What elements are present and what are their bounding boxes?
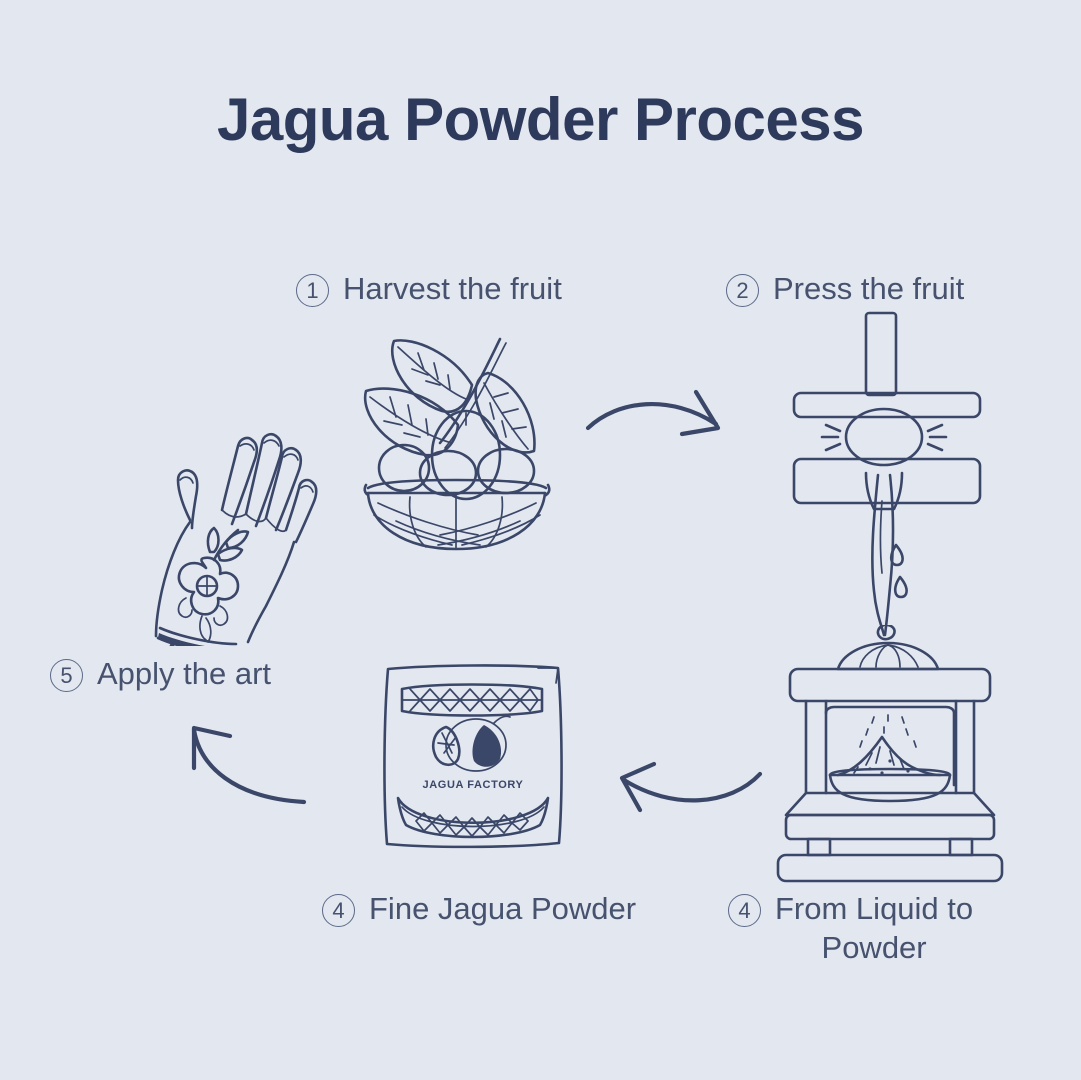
step-label-apply-art: 5 Apply the art: [50, 655, 271, 694]
step-number-4: 4: [322, 894, 355, 927]
step-number-2: 2: [726, 274, 759, 307]
step-number-1: 1: [296, 274, 329, 307]
pouch-brand-text: JAGUA FACTORY: [423, 779, 524, 791]
step-label-press: 2 Press the fruit: [726, 270, 964, 309]
step-label-text-liquid-to-powder: From Liquid to Powder: [775, 890, 973, 968]
fruit-basket-icon: [348, 325, 584, 555]
fruit-press-icon: [778, 305, 1004, 645]
step-number-3: 4: [728, 894, 761, 927]
arrow-harvest-to-press-icon: [578, 380, 744, 458]
step-label-text-apply-art: Apply the art: [97, 655, 271, 694]
arrow-powder-to-pouch-icon: [606, 746, 772, 824]
step-label-liquid-to-powder: 4 From Liquid to Powder: [728, 890, 973, 968]
dehydrator-icon: [772, 625, 1010, 883]
jagua-powder-process-infographic: Jagua Powder Process 1 Harvest the fruit…: [0, 0, 1081, 1080]
arrow-pouch-to-hand-icon: [158, 716, 344, 832]
step-label-text-fine-powder: Fine Jagua Powder: [369, 890, 636, 929]
step-number-5: 5: [50, 659, 83, 692]
step-label-harvest: 1 Harvest the fruit: [296, 270, 562, 309]
step-label-text-press: Press the fruit: [773, 270, 964, 309]
hand-with-jagua-art-icon: [136, 410, 322, 646]
page-title: Jagua Powder Process: [0, 88, 1081, 151]
powder-pouch-icon: JAGUA FACTORY: [372, 655, 574, 855]
step-label-text-harvest: Harvest the fruit: [343, 270, 562, 309]
step-label-fine-powder: 4 Fine Jagua Powder: [322, 890, 636, 929]
